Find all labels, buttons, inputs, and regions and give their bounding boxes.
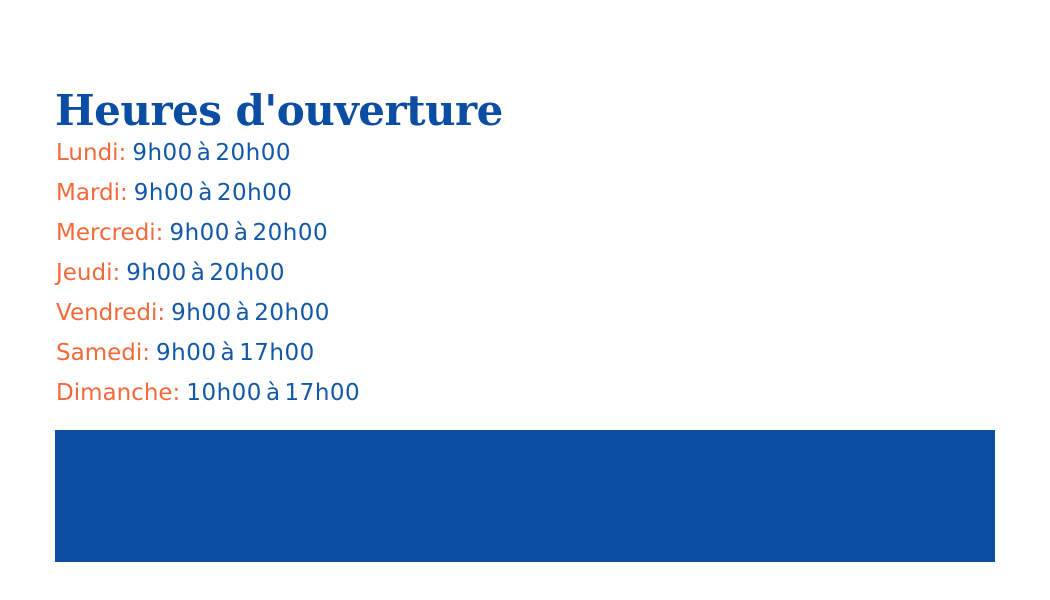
time-separator: à bbox=[216, 340, 239, 366]
close-time: 20h00 bbox=[215, 140, 291, 166]
close-time: 17h00 bbox=[285, 380, 361, 406]
time-range: 10h00à17h00 bbox=[186, 380, 360, 406]
open-time: 9h00 bbox=[156, 340, 216, 366]
time-range: 9h00à20h00 bbox=[171, 300, 330, 326]
close-time: 20h00 bbox=[209, 260, 285, 286]
open-time: 9h00 bbox=[134, 180, 194, 206]
list-item: Mardi:9h00à20h00 bbox=[56, 173, 360, 213]
slide-canvas: Heures d'ouverture Lundi:9h00à20h00 Mard… bbox=[0, 0, 1050, 600]
time-range: 9h00à20h00 bbox=[126, 260, 285, 286]
time-separator: à bbox=[187, 260, 210, 286]
open-time: 9h00 bbox=[132, 140, 192, 166]
open-time: 10h00 bbox=[186, 380, 262, 406]
time-range: 9h00à20h00 bbox=[169, 220, 328, 246]
time-range: 9h00à20h00 bbox=[132, 140, 291, 166]
list-item: Mercredi:9h00à20h00 bbox=[56, 213, 360, 253]
day-label: Vendredi: bbox=[56, 300, 165, 326]
time-separator: à bbox=[230, 220, 253, 246]
time-range: 9h00à20h00 bbox=[134, 180, 293, 206]
time-separator: à bbox=[193, 140, 216, 166]
close-time: 20h00 bbox=[254, 300, 330, 326]
opening-hours-list: Lundi:9h00à20h00 Mardi:9h00à20h00 Mercre… bbox=[56, 133, 360, 413]
time-separator: à bbox=[262, 380, 285, 406]
day-label: Jeudi: bbox=[56, 260, 120, 286]
day-label: Lundi: bbox=[56, 140, 126, 166]
open-time: 9h00 bbox=[126, 260, 186, 286]
time-range: 9h00à17h00 bbox=[156, 340, 315, 366]
open-time: 9h00 bbox=[171, 300, 231, 326]
list-item: Samedi:9h00à17h00 bbox=[56, 333, 360, 373]
list-item: Lundi:9h00à20h00 bbox=[56, 133, 360, 173]
open-time: 9h00 bbox=[169, 220, 229, 246]
day-label: Samedi: bbox=[56, 340, 150, 366]
close-time: 17h00 bbox=[239, 340, 315, 366]
footer-banner bbox=[55, 430, 995, 562]
day-label: Mercredi: bbox=[56, 220, 163, 246]
list-item: Dimanche:10h00à17h00 bbox=[56, 373, 360, 413]
time-separator: à bbox=[232, 300, 255, 326]
day-label: Mardi: bbox=[56, 180, 128, 206]
close-time: 20h00 bbox=[253, 220, 329, 246]
list-item: Jeudi:9h00à20h00 bbox=[56, 253, 360, 293]
list-item: Vendredi:9h00à20h00 bbox=[56, 293, 360, 333]
close-time: 20h00 bbox=[217, 180, 293, 206]
page-title: Heures d'ouverture bbox=[55, 88, 503, 134]
time-separator: à bbox=[194, 180, 217, 206]
day-label: Dimanche: bbox=[56, 380, 180, 406]
